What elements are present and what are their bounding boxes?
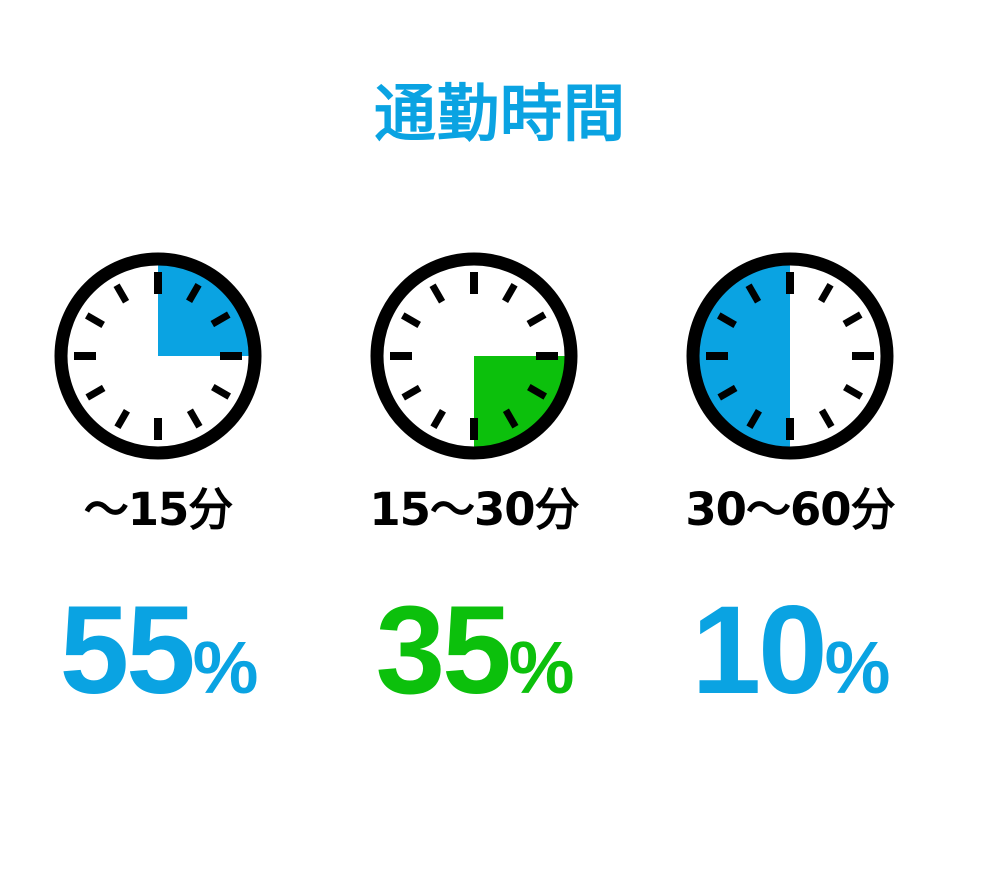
category-columns: 〜15分 55 %	[0, 250, 1000, 750]
category-label-1: 〜15分	[84, 482, 233, 538]
commute-time-infographic: 通勤時間	[0, 0, 1000, 882]
percent-symbol-3: %	[825, 613, 889, 723]
clock-icon	[52, 250, 264, 462]
percent-symbol-2: %	[509, 613, 573, 723]
value-number-3: 10	[692, 596, 825, 706]
clock-icon-3	[684, 250, 896, 462]
clock-icon	[684, 250, 896, 462]
value-row-2: 35 %	[376, 596, 573, 723]
percent-symbol-1: %	[193, 613, 257, 723]
category-column-1: 〜15分 55 %	[0, 250, 316, 750]
clock-icon	[368, 250, 580, 462]
clock-icon-1	[52, 250, 264, 462]
category-label-3: 30〜60分	[685, 482, 894, 538]
value-number-2: 35	[376, 596, 509, 706]
value-row-3: 10 %	[692, 596, 889, 723]
category-label-2: 15〜30分	[369, 482, 578, 538]
category-column-2: 15〜30分 35 %	[316, 250, 632, 750]
page-title: 通勤時間	[0, 78, 1000, 150]
category-column-3: 30〜60分 10 %	[632, 250, 948, 750]
value-row-1: 55 %	[60, 596, 257, 723]
clock-icon-2	[368, 250, 580, 462]
value-number-1: 55	[60, 596, 193, 706]
